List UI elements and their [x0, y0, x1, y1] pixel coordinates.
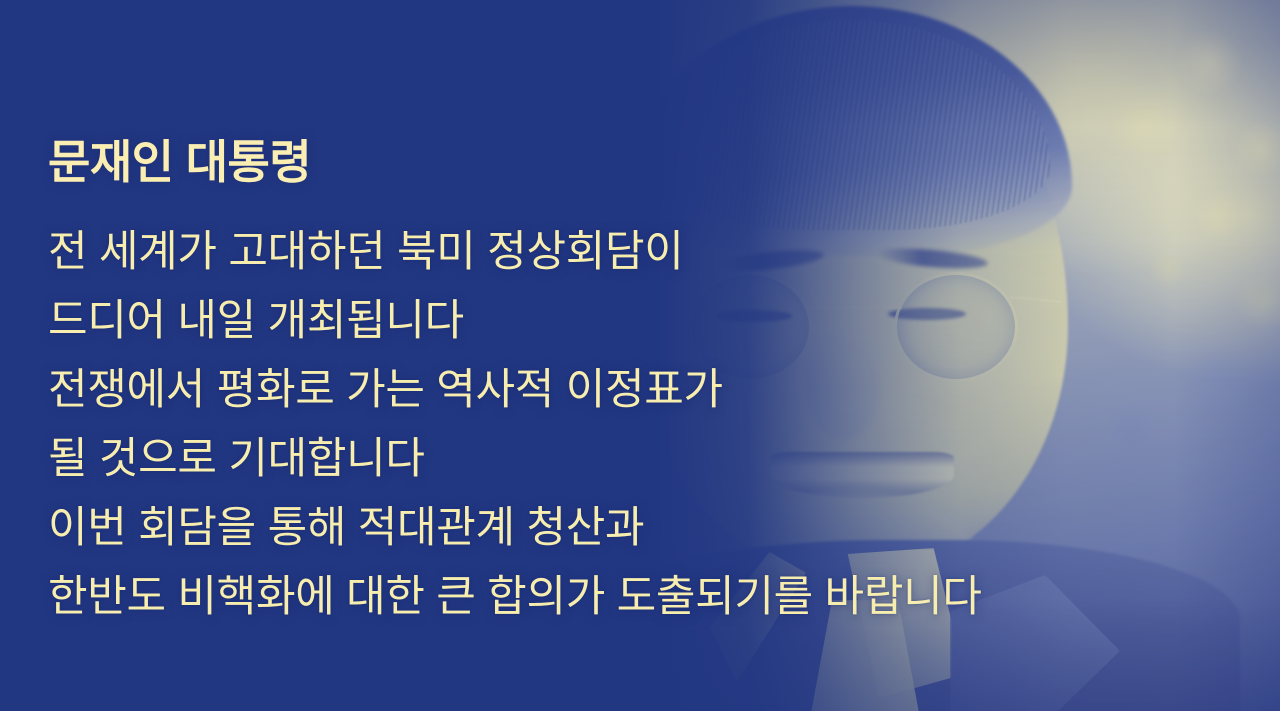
quote-line: 전쟁에서 평화로 가는 역사적 이정표가	[48, 356, 982, 425]
quote-line: 될 것으로 기대합니다	[48, 425, 982, 494]
speaker-title: 문재인 대통령	[48, 126, 311, 192]
quote-block: 전 세계가 고대하던 북미 정상회담이 드디어 내일 개최됩니다 전쟁에서 평화…	[48, 218, 982, 632]
quote-line: 전 세계가 고대하던 북미 정상회담이	[48, 218, 982, 287]
text-content: 문재인 대통령 전 세계가 고대하던 북미 정상회담이 드디어 내일 개최됩니다…	[48, 0, 1248, 711]
quote-card: 문재인 대통령 전 세계가 고대하던 북미 정상회담이 드디어 내일 개최됩니다…	[0, 0, 1280, 711]
quote-line: 한반도 비핵화에 대한 큰 합의가 도출되기를 바랍니다	[48, 563, 982, 632]
quote-line: 드디어 내일 개최됩니다	[48, 287, 982, 356]
quote-line: 이번 회담을 통해 적대관계 청산과	[48, 494, 982, 563]
